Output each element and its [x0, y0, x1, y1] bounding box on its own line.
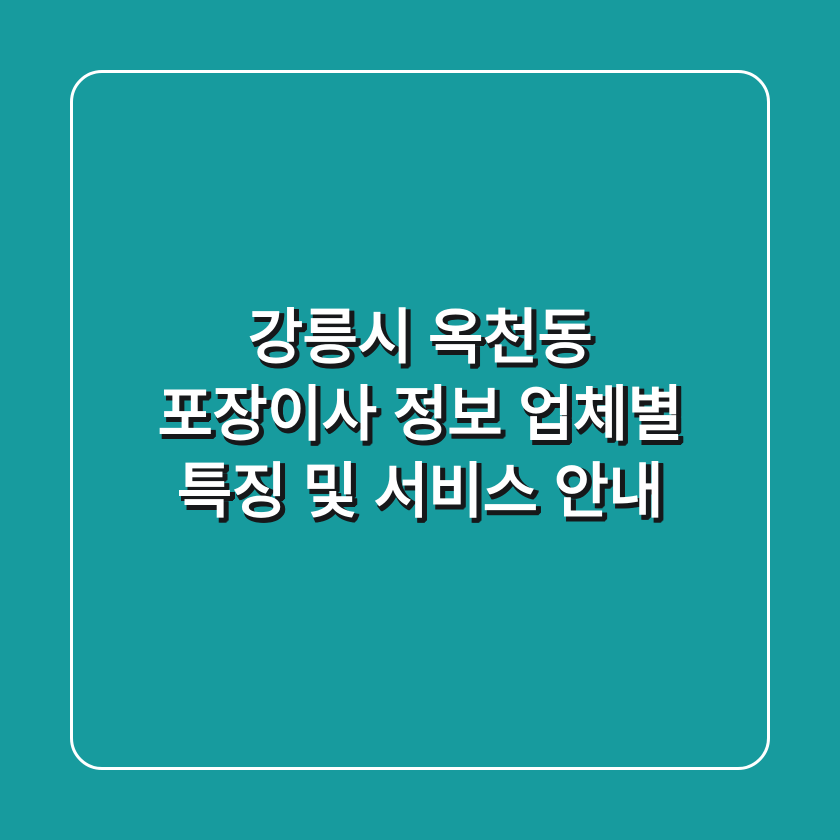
- title-line-2: 포장이사 정보 업체별: [0, 376, 840, 453]
- title-line-1: 강릉시 옥천동: [0, 299, 840, 376]
- thumbnail-card: 강릉시 옥천동 포장이사 정보 업체별 특징 및 서비스 안내: [0, 0, 840, 840]
- title-line-3: 특징 및 서비스 안내: [0, 453, 840, 530]
- page-title: 강릉시 옥천동 포장이사 정보 업체별 특징 및 서비스 안내: [0, 0, 840, 840]
